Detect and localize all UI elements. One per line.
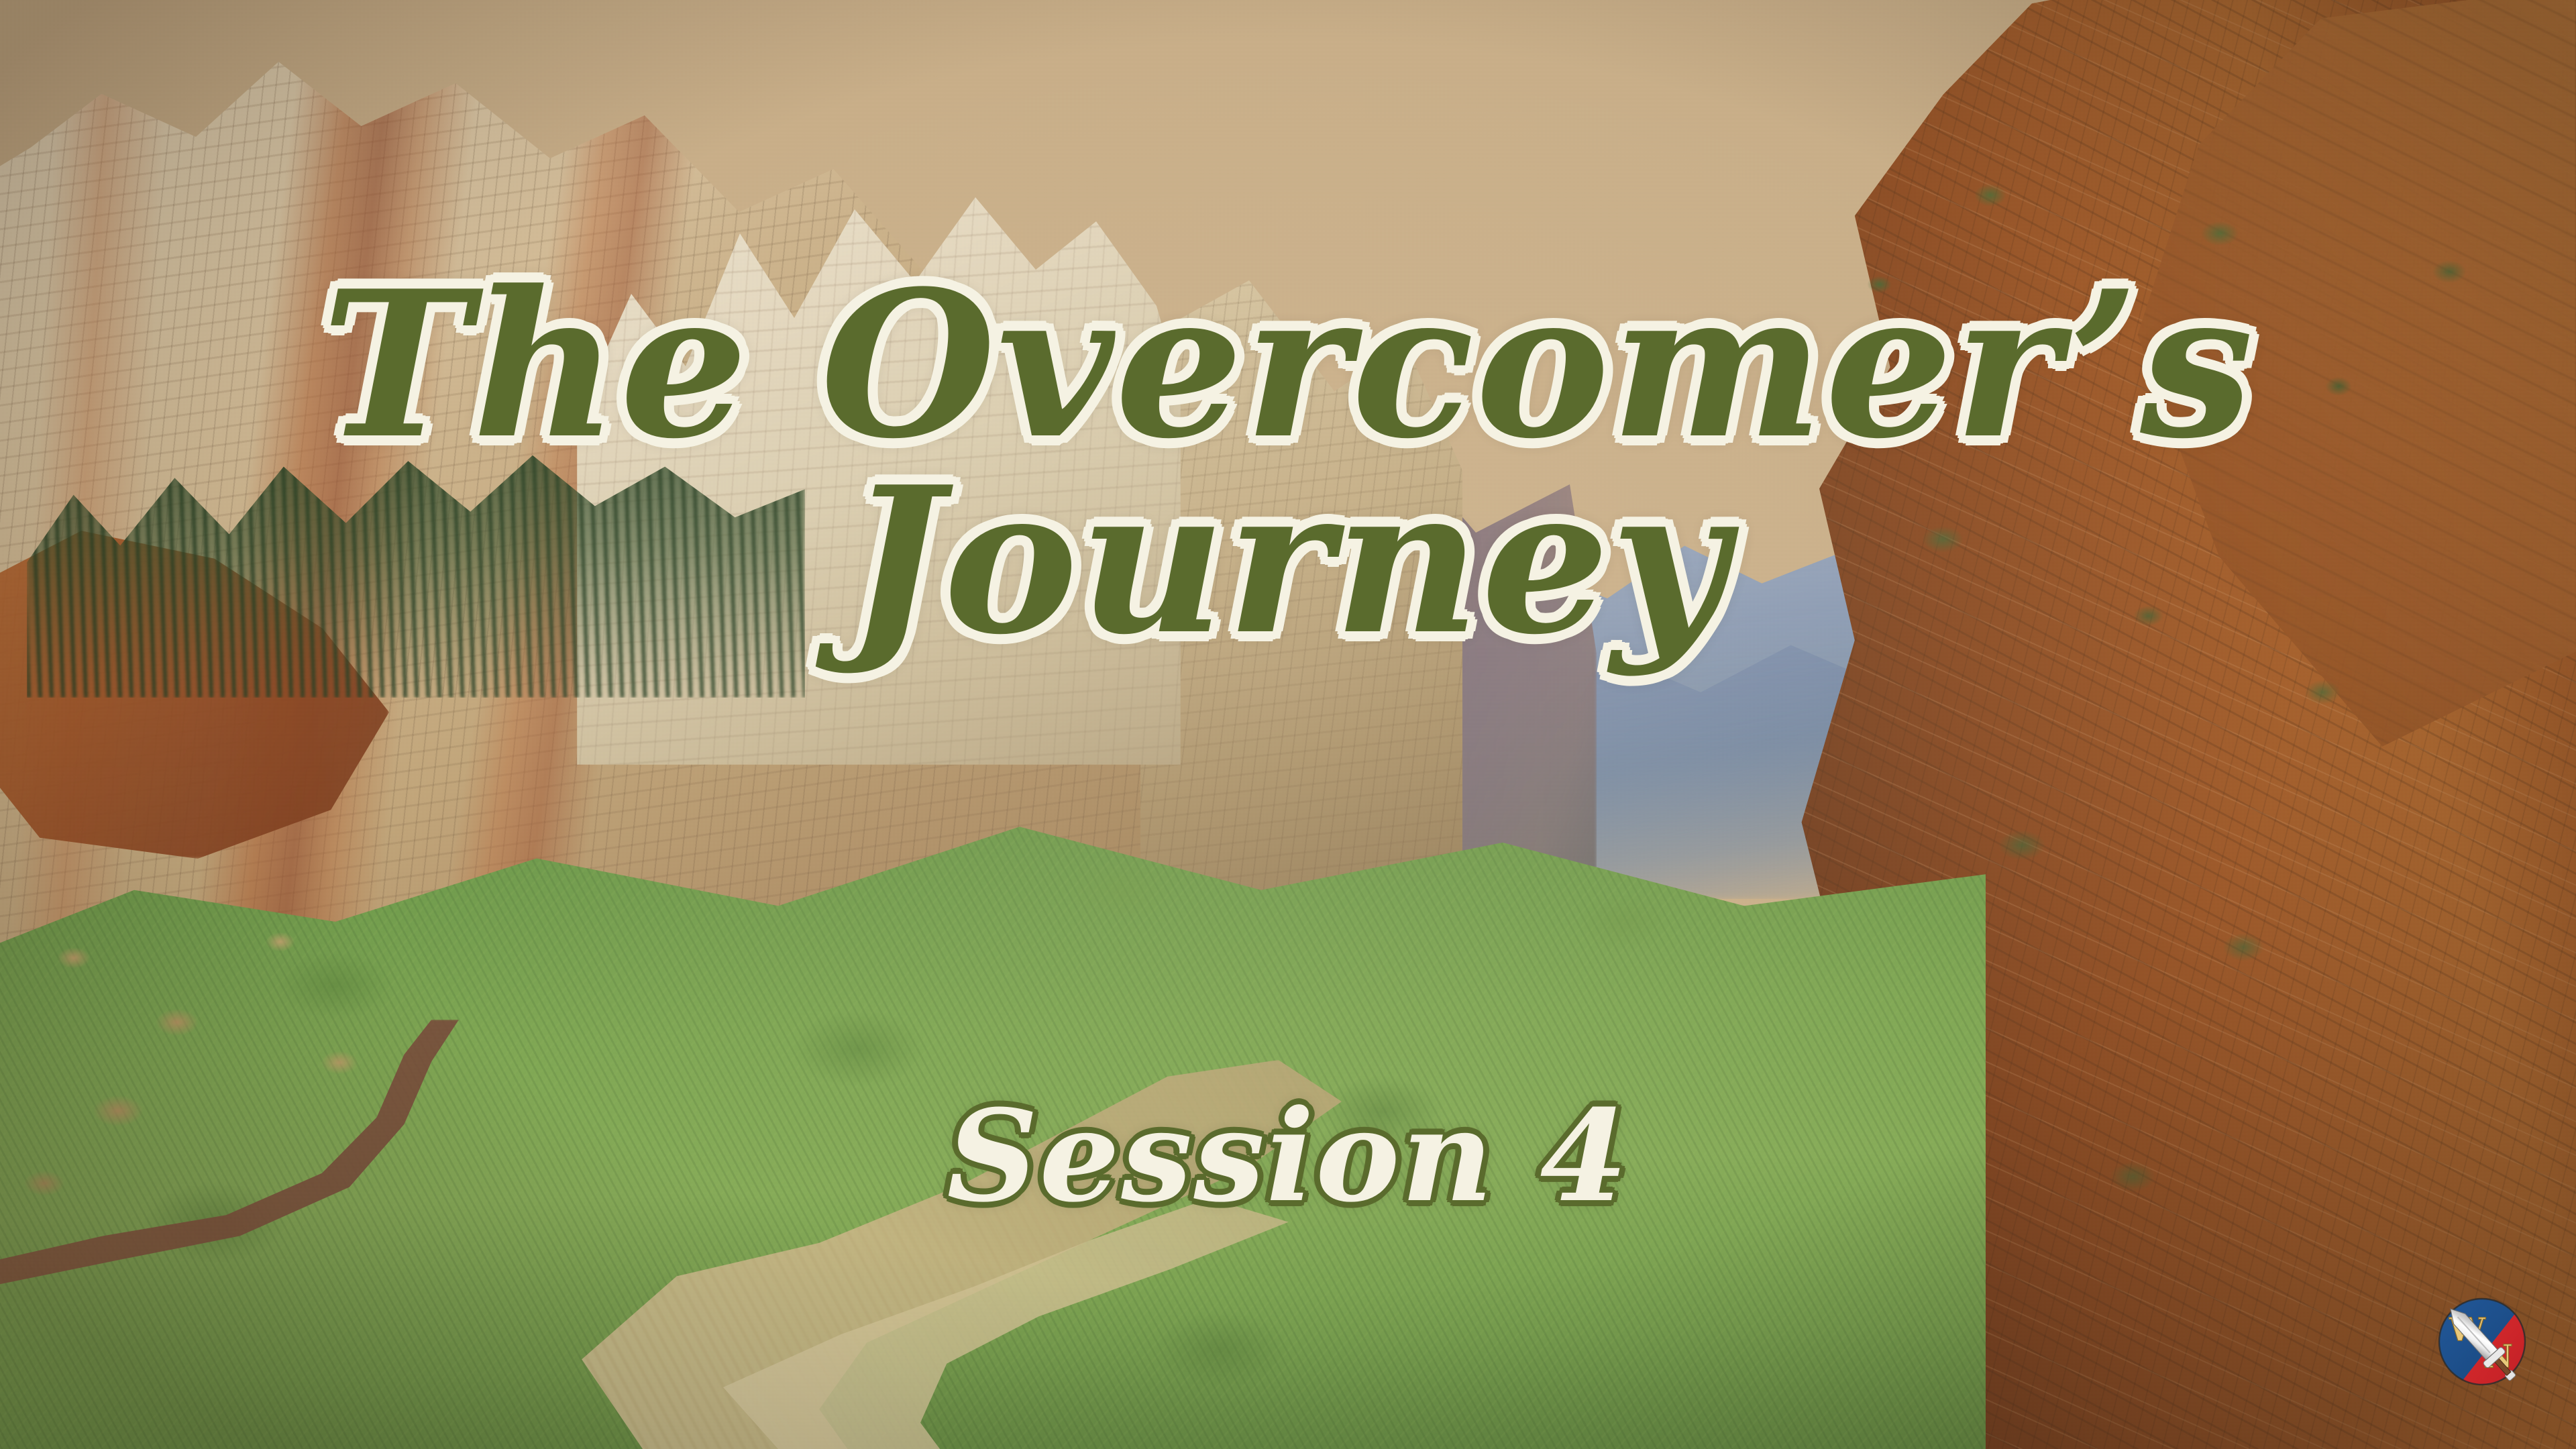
background-photo — [0, 0, 2576, 1449]
scattered-boulders — [0, 885, 738, 1288]
title-slide: The Overcomer’s Journey Session 4 — [0, 0, 2576, 1449]
warrior-notes-emblem-icon: W N — [2434, 1293, 2541, 1404]
brand-logo: W N — [2434, 1293, 2541, 1404]
